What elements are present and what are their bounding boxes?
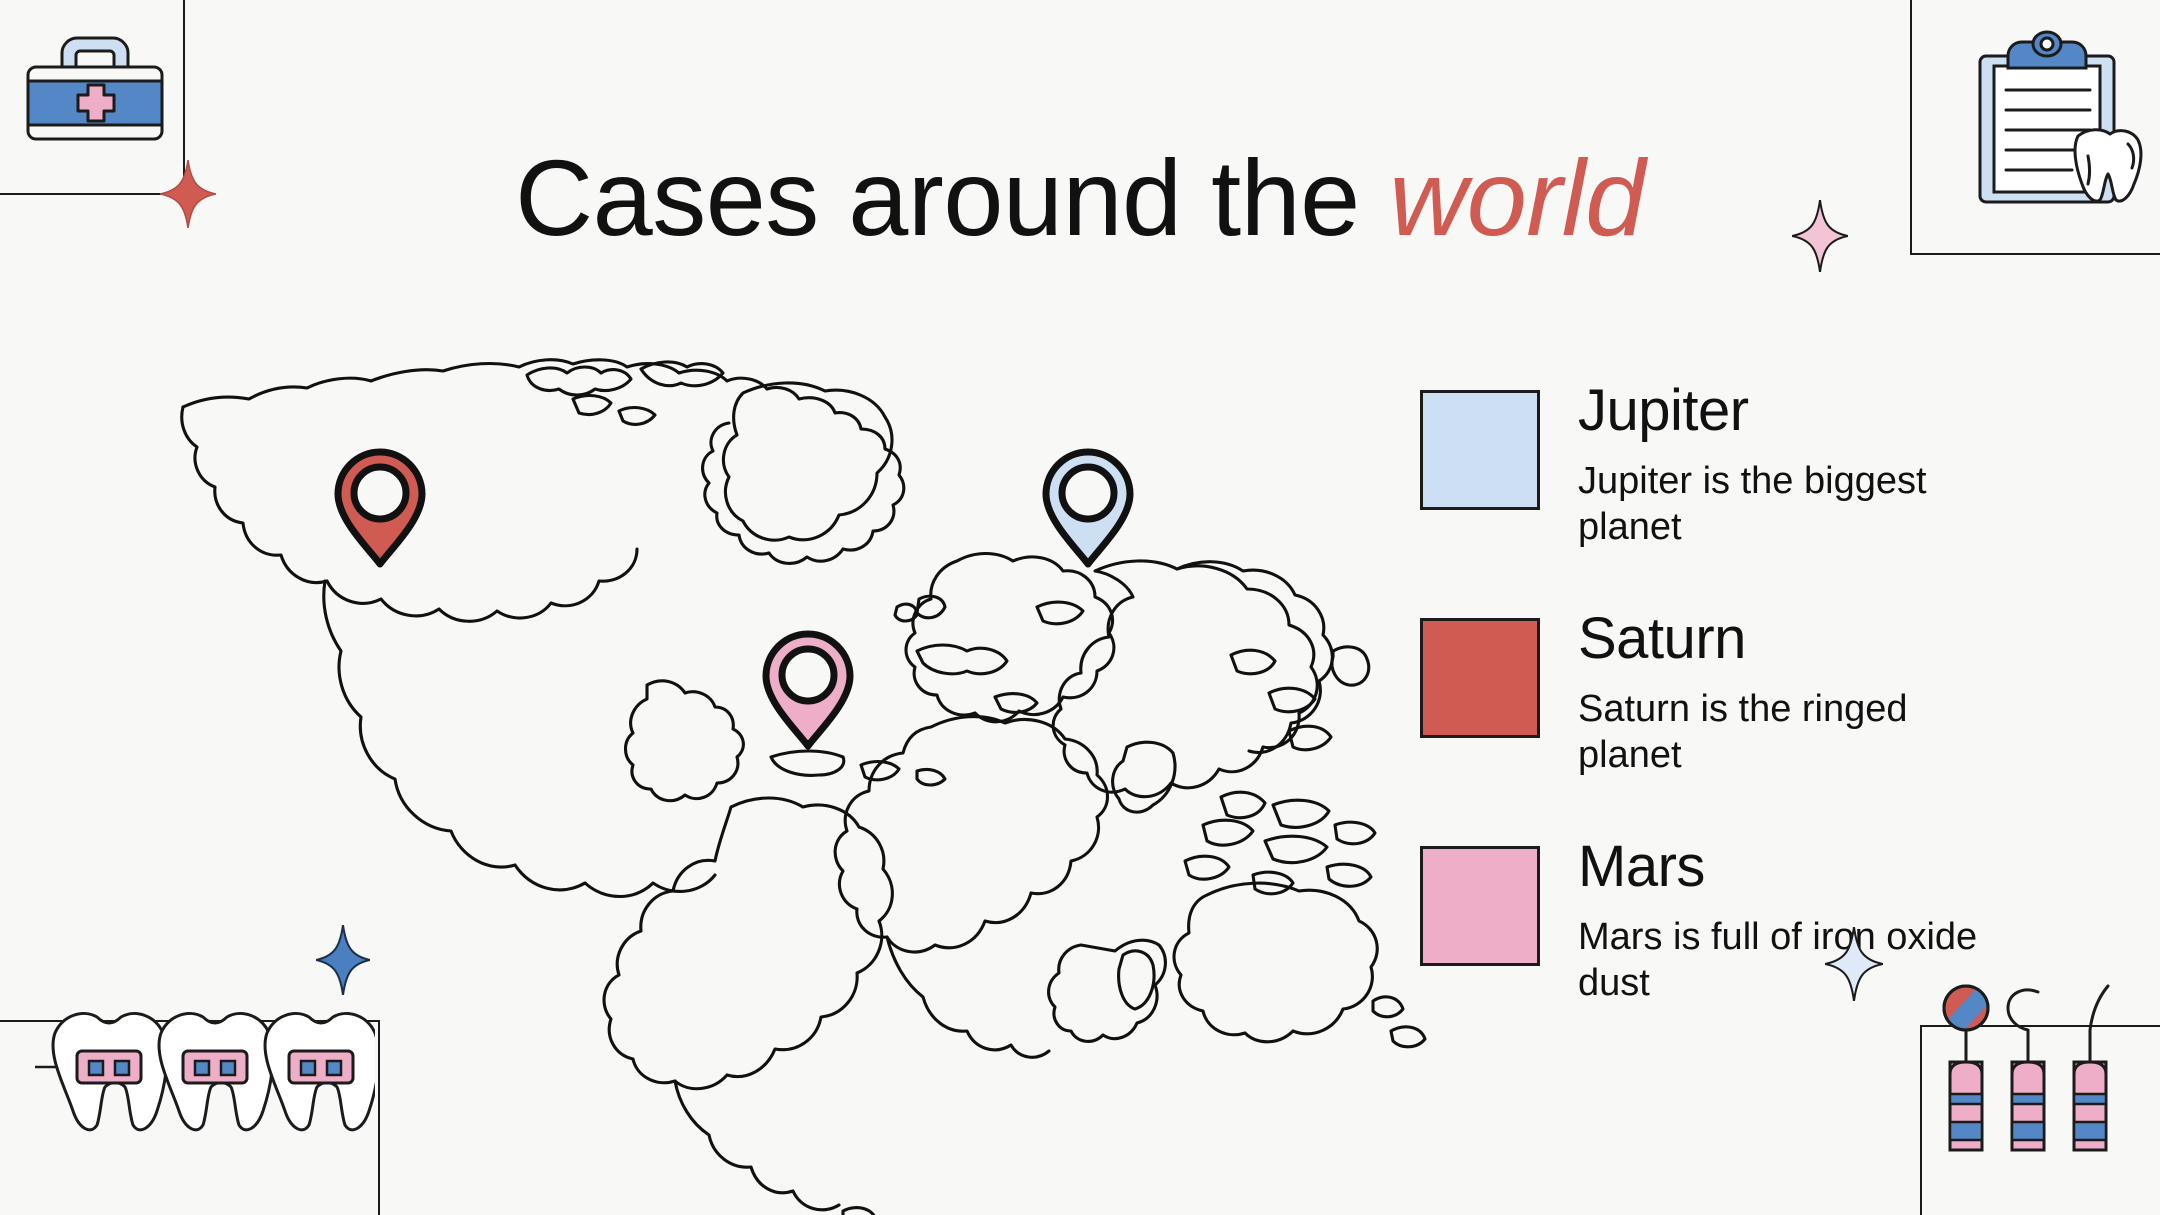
legend-text-saturn: Saturn Saturn is the ringed planet [1578,610,2100,779]
decoration-top-right [1800,0,2160,360]
map-pin-icon [760,630,856,750]
sparkle-icon [1825,927,1883,1001]
first-aid-kit-icon [10,25,180,175]
legend-swatch-mars [1420,846,1540,966]
dental-explorer [2008,990,2044,1150]
map-pin-north-america[interactable] [332,448,428,568]
legend-swatch-jupiter [1420,390,1540,510]
map-pin-icon [332,448,428,568]
legend-desc-jupiter: Jupiter is the biggest planet [1578,458,1978,551]
legend-item-jupiter[interactable]: Jupiter Jupiter is the biggest planet [1420,382,2100,610]
braces-teeth-icon [35,995,375,1155]
sparkle-icon [1792,200,1848,272]
tooth [159,1014,273,1130]
slide-root: Cases around the world [0,0,2160,1215]
legend-swatch-saturn [1420,618,1540,738]
map-pin-africa[interactable] [760,630,856,750]
dental-chart-clipboard-icon [1960,28,2150,218]
dental-probe [2074,986,2108,1150]
decoration-bottom-right [1830,935,2160,1215]
dental-mirror [1944,982,1998,1150]
decoration-bottom-left [0,935,420,1215]
legend-item-saturn[interactable]: Saturn Saturn is the ringed planet [1420,610,2100,838]
dental-tools-icon [1930,980,2130,1170]
sparkle-icon [160,160,216,228]
page-title-lead: Cases around the [515,137,1389,258]
legend-title-saturn: Saturn [1578,610,2100,668]
sparkle-icon [316,925,370,995]
legend-desc-saturn: Saturn is the ringed planet [1578,686,1978,779]
legend-title-mars: Mars [1578,838,2100,896]
decoration-top-left [0,0,330,330]
legend-text-jupiter: Jupiter Jupiter is the biggest planet [1578,382,2100,551]
legend-title-jupiter: Jupiter [1578,382,2100,440]
tooth [53,1014,167,1130]
tooth [265,1014,375,1130]
map-pin-icon [1040,448,1136,568]
map-pin-asia[interactable] [1040,448,1136,568]
page-title-accent: world [1389,137,1645,258]
